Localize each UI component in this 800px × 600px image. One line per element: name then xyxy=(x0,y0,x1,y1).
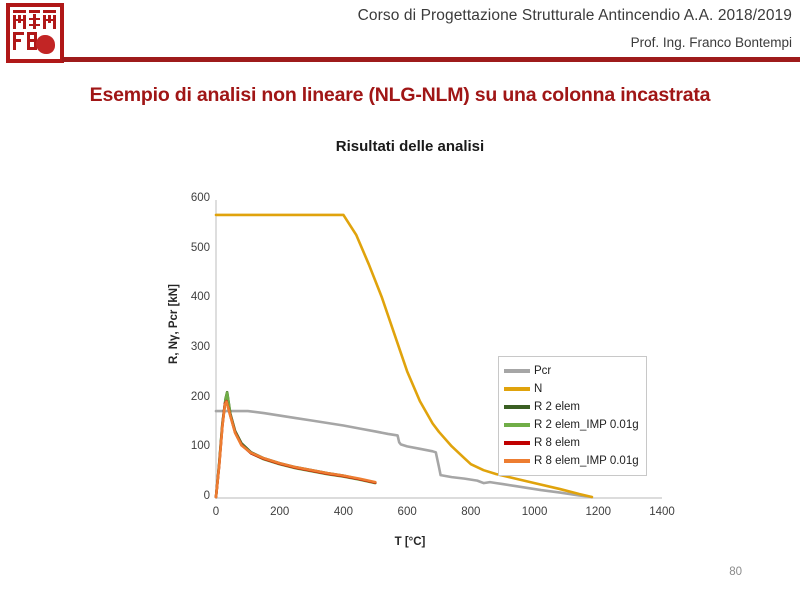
page-title: Esempio di analisi non lineare (NLG-NLM)… xyxy=(0,84,800,107)
legend-label: N xyxy=(534,383,542,395)
page-number: 80 xyxy=(729,566,742,578)
legend-color-swatch xyxy=(504,441,530,445)
course-title: Corso di Progettazione Strutturale Antin… xyxy=(140,4,792,28)
chart-title: Risultati delle analisi xyxy=(150,138,670,155)
legend-label: R 2 elem xyxy=(534,401,580,413)
legend-item[interactable]: R 8 elem_IMP 0.01g xyxy=(504,452,639,470)
legend-label: R 8 elem_IMP 0.01g xyxy=(534,455,639,467)
legend-item[interactable]: R 8 elem xyxy=(504,434,639,452)
legend-color-swatch xyxy=(504,369,530,373)
legend-color-swatch xyxy=(504,423,530,427)
legend-color-swatch xyxy=(504,459,530,463)
legend-color-swatch xyxy=(504,405,530,409)
slide-header: Corso di Progettazione Strutturale Antin… xyxy=(0,0,800,70)
header-text-group: Corso di Progettazione Strutturale Antin… xyxy=(140,4,792,54)
legend-label: R 8 elem xyxy=(534,437,580,449)
legend-item[interactable]: N xyxy=(504,380,639,398)
professor-name: Prof. Ing. Franco Bontempi xyxy=(140,32,792,54)
header-divider xyxy=(62,57,800,62)
chart-legend: PcrNR 2 elemR 2 elem_IMP 0.01gR 8 elemR … xyxy=(498,356,647,476)
legend-color-swatch xyxy=(504,387,530,391)
legend-label: Pcr xyxy=(534,365,551,377)
legend-item[interactable]: R 2 elem_IMP 0.01g xyxy=(504,416,639,434)
legend-item[interactable]: Pcr xyxy=(504,362,639,380)
chart-container: Risultati delle analisi R, Nγ, Pcr [kN] … xyxy=(150,130,670,550)
legend-label: R 2 elem_IMP 0.01g xyxy=(534,419,639,431)
seal-glyph-group xyxy=(13,10,57,56)
plot-area: R, Nγ, Pcr [kN] T [°C] 01002003004005006… xyxy=(150,190,670,550)
fb-seal-logo-icon xyxy=(6,3,64,63)
series-line xyxy=(216,401,375,497)
series-line xyxy=(216,402,375,497)
legend-item[interactable]: R 2 elem xyxy=(504,398,639,416)
seal-dot xyxy=(36,35,55,54)
